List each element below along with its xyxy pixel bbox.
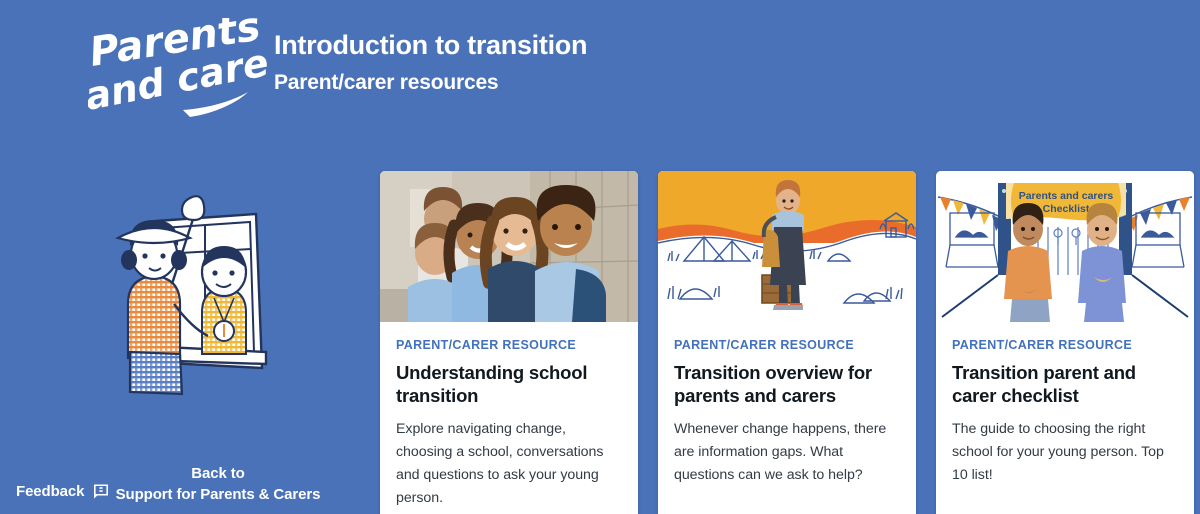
back-to-support-link[interactable]: Back to Support for Parents & Carers	[110, 463, 326, 505]
feedback-label: Feedback	[16, 483, 84, 500]
card-image-traveller-landscape	[658, 171, 916, 322]
page-title: Introduction to transition	[274, 28, 894, 62]
card-body: PARENT/CARER RESOURCE Transition overvie…	[658, 322, 916, 511]
card-image-students-corridor	[380, 171, 638, 322]
parents-and-carers-logo: Parents and carers	[88, 18, 268, 123]
card-eyebrow: PARENT/CARER RESOURCE	[952, 338, 1178, 352]
page-header: Parents and carers Introduction to trans…	[0, 0, 1200, 160]
banner-line-1: Parents and carers	[1019, 190, 1114, 202]
card-title: Transition overview for parents and care…	[674, 361, 900, 407]
window-illustration	[110, 176, 296, 396]
card-image-checklist-banner: Parents and carers Checklist	[936, 171, 1194, 322]
card-description: Explore navigating change, choosing a sc…	[396, 418, 622, 510]
card-body: PARENT/CARER RESOURCE Understanding scho…	[380, 322, 638, 514]
comment-icon	[93, 484, 109, 499]
resource-card-understanding-school-transition[interactable]: PARENT/CARER RESOURCE Understanding scho…	[380, 171, 638, 514]
card-title: Transition parent and carer checklist	[952, 361, 1178, 407]
card-description: Whenever change happens, there are infor…	[674, 418, 900, 487]
page-subtitle: Parent/carer resources	[274, 68, 894, 98]
card-eyebrow: PARENT/CARER RESOURCE	[396, 338, 622, 352]
card-title: Understanding school transition	[396, 361, 622, 407]
card-body: PARENT/CARER RESOURCE Transition parent …	[936, 322, 1194, 511]
feedback-link[interactable]: Feedback	[16, 483, 109, 500]
back-to-label-line2: Support for Parents & Carers	[110, 484, 326, 505]
resource-card-list: PARENT/CARER RESOURCE Understanding scho…	[380, 171, 1194, 514]
header-titles: Introduction to transition Parent/carer …	[274, 28, 894, 98]
back-to-label-line1: Back to	[110, 463, 326, 484]
resource-card-transition-overview[interactable]: PARENT/CARER RESOURCE Transition overvie…	[658, 171, 916, 514]
card-eyebrow: PARENT/CARER RESOURCE	[674, 338, 900, 352]
banner-line-2: Checklist	[1043, 203, 1090, 215]
resource-card-transition-checklist[interactable]: Parents and carers Checklist	[936, 171, 1194, 514]
card-description: The guide to choosing the right school f…	[952, 418, 1178, 487]
